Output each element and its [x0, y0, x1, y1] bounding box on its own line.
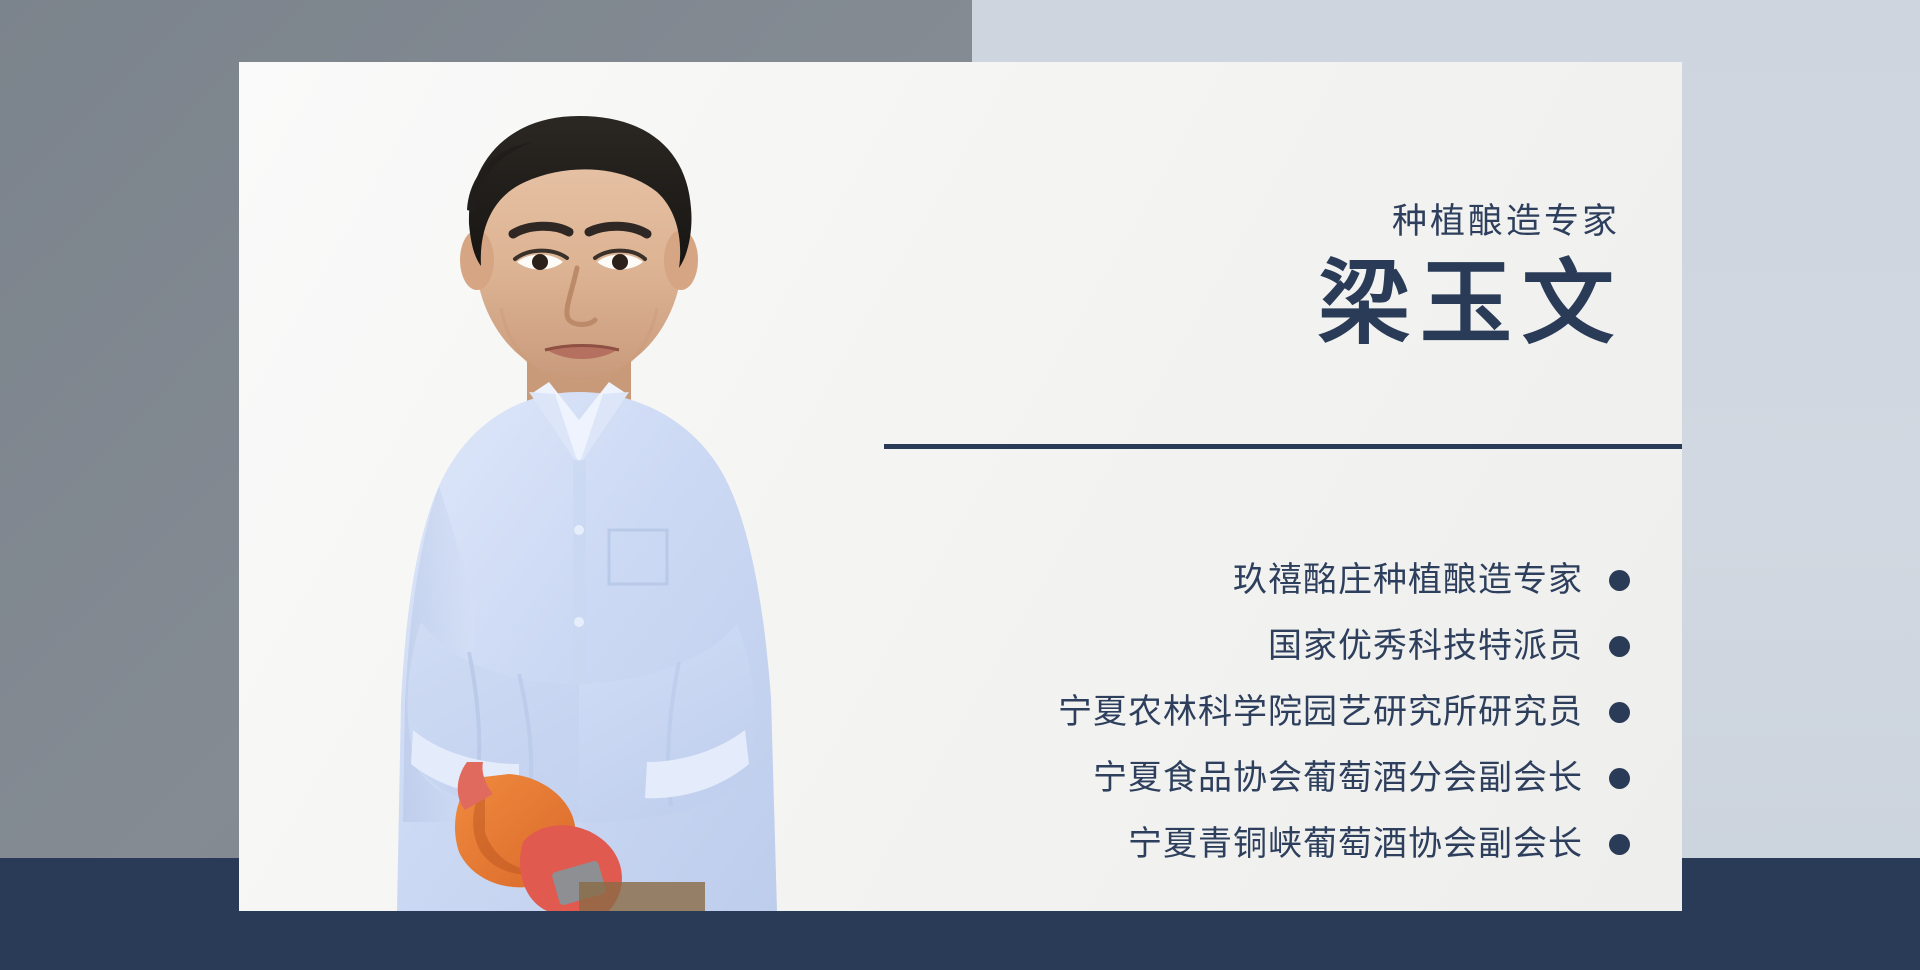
portrait-photo — [279, 62, 879, 911]
credential-label: 宁夏青铜峡葡萄酒协会副会长 — [1128, 827, 1583, 861]
credential-list: 玖禧酩庄种植酿造专家 国家优秀科技特派员 宁夏农林科学院园艺研究所研究员 宁夏食… — [1058, 547, 1630, 877]
profile-subtitle: 种植酿造专家 — [1392, 204, 1620, 239]
credential-label: 宁夏食品协会葡萄酒分会副会长 — [1093, 761, 1583, 795]
profile-info: 种植酿造专家 梁玉文 玖禧酩庄种植酿造专家 国家优秀科技特派员 宁夏农林科学院园… — [879, 62, 1682, 911]
profile-name: 梁玉文 — [1318, 252, 1624, 358]
profile-card: 种植酿造专家 梁玉文 玖禧酩庄种植酿造专家 国家优秀科技特派员 宁夏农林科学院园… — [239, 62, 1682, 911]
credential-label: 玖禧酩庄种植酿造专家 — [1233, 563, 1583, 597]
credential-label: 国家优秀科技特派员 — [1268, 629, 1583, 663]
bullet-dot-icon — [1609, 636, 1630, 657]
background-navy-seam — [972, 960, 1920, 970]
credential-label: 宁夏农林科学院园艺研究所研究员 — [1058, 695, 1583, 729]
banner-stage: 种植酿造专家 梁玉文 玖禧酩庄种植酿造专家 国家优秀科技特派员 宁夏农林科学院园… — [0, 0, 1920, 970]
list-item: 宁夏农林科学院园艺研究所研究员 — [1058, 679, 1630, 745]
bullet-dot-icon — [1609, 768, 1630, 789]
bullet-dot-icon — [1609, 834, 1630, 855]
list-item: 宁夏食品协会葡萄酒分会副会长 — [1058, 745, 1630, 811]
list-item: 玖禧酩庄种植酿造专家 — [1058, 547, 1630, 613]
list-item: 国家优秀科技特派员 — [1058, 613, 1630, 679]
list-item: 宁夏青铜峡葡萄酒协会副会长 — [1058, 811, 1630, 877]
bullet-dot-icon — [1609, 570, 1630, 591]
divider-line — [884, 444, 1682, 449]
bullet-dot-icon — [1609, 702, 1630, 723]
